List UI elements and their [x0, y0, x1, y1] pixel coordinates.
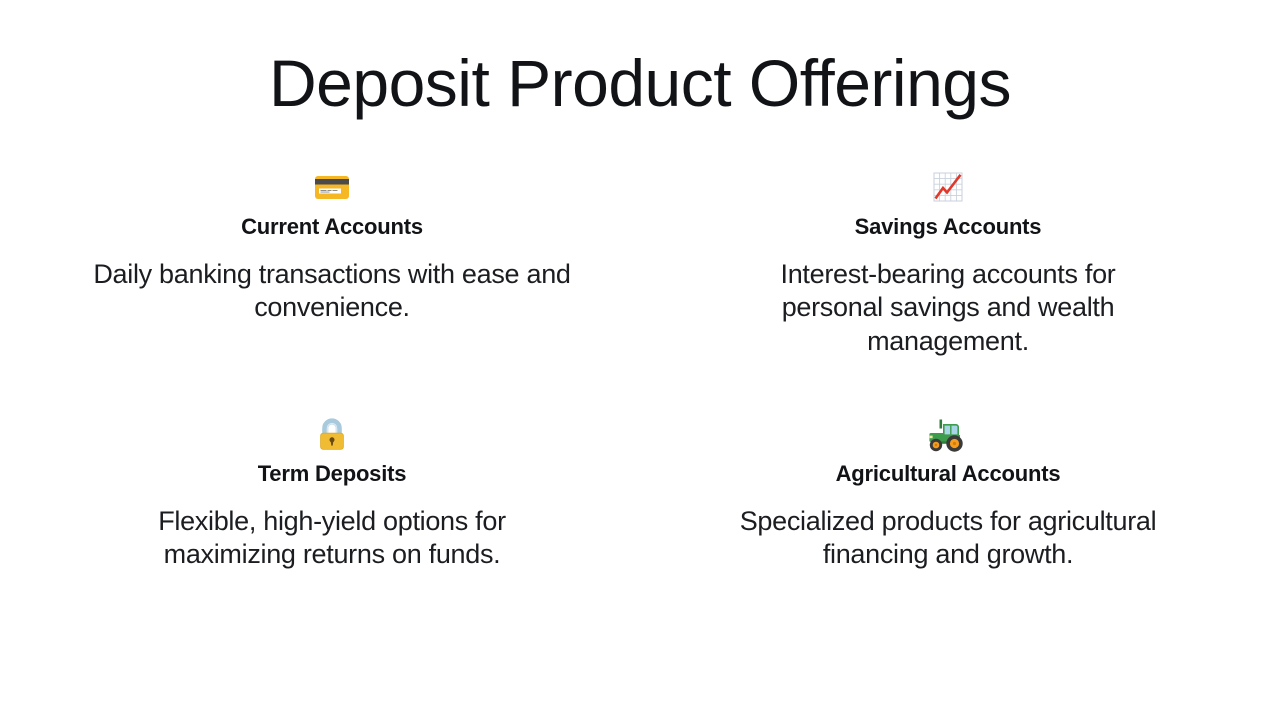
page-title: Deposit Product Offerings	[269, 48, 1011, 119]
feature-card-body: Interest-bearing accounts for personal s…	[748, 258, 1148, 358]
feature-card-heading: Current Accounts	[241, 213, 423, 242]
tractor-icon	[926, 412, 970, 456]
slide-root: Deposit Product Offerings Current Accoun	[0, 0, 1280, 720]
locked-padlock-icon	[310, 412, 354, 456]
feature-card-current-accounts: Current Accounts Daily banking transacti…	[24, 165, 640, 358]
feature-card-agricultural-accounts: Agricultural Accounts Specialized produc…	[640, 412, 1256, 572]
feature-card-body: Flexible, high-yield options for maximiz…	[124, 505, 540, 572]
feature-card-grid: Current Accounts Daily banking transacti…	[24, 165, 1256, 572]
feature-card-savings-accounts: Savings Accounts Interest-bearing accoun…	[640, 165, 1256, 358]
feature-card-term-deposits: Term Deposits Flexible, high-yield optio…	[24, 412, 640, 572]
feature-card-body: Daily banking transactions with ease and…	[86, 258, 578, 325]
credit-card-icon	[310, 165, 354, 209]
feature-card-heading: Agricultural Accounts	[836, 460, 1061, 489]
feature-card-heading: Term Deposits	[258, 460, 407, 489]
feature-card-body: Specialized products for agricultural fi…	[703, 505, 1193, 572]
chart-increasing-icon	[926, 165, 970, 209]
feature-card-heading: Savings Accounts	[855, 213, 1042, 242]
